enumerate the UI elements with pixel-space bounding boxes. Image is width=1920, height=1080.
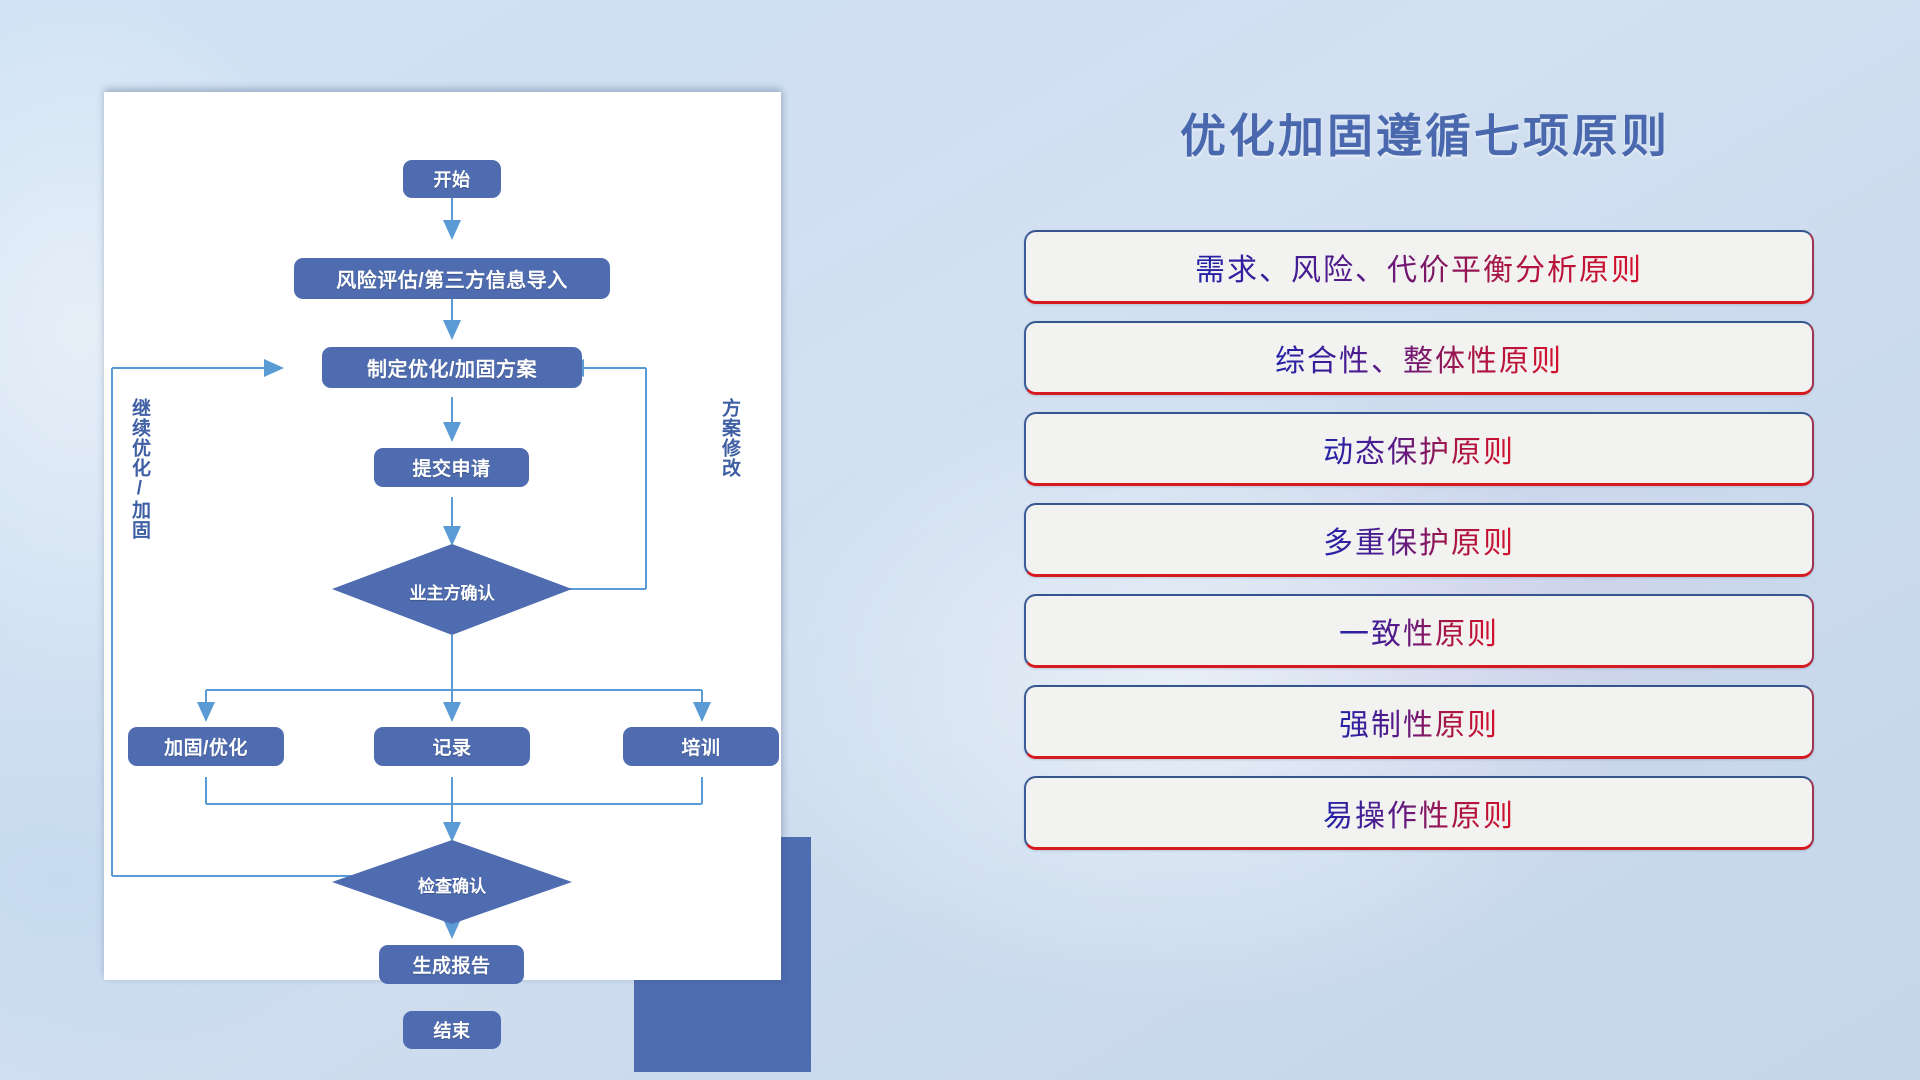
principle-item[interactable]: 多重保护原则 — [1024, 503, 1814, 577]
flowchart-card: 开始 风险评估/第三方信息导入 制定优化/加固方案 提交申请 业主方确认 加固/… — [104, 92, 781, 980]
flow-node-training-label: 培训 — [681, 733, 720, 760]
flow-node-end[interactable]: 结束 — [403, 1011, 501, 1049]
flow-node-make-plan-label: 制定优化/加固方案 — [367, 353, 537, 382]
flow-edge-label-right-loop: 方案修改 — [719, 398, 739, 478]
slide-canvas: 开始 风险评估/第三方信息导入 制定优化/加固方案 提交申请 业主方确认 加固/… — [0, 0, 1920, 1080]
flow-node-make-plan[interactable]: 制定优化/加固方案 — [322, 347, 582, 388]
flow-node-owner-confirm — [332, 544, 572, 635]
flow-node-generate-report-label: 生成报告 — [412, 951, 490, 978]
flow-node-reinforce-optimize-label: 加固/优化 — [164, 733, 248, 760]
flow-edge-label-left-loop: 继续优化/加固 — [129, 398, 149, 540]
flow-node-submit-application-label: 提交申请 — [412, 454, 490, 481]
principle-item-label: 动态保护原则 — [1323, 427, 1515, 471]
principle-item[interactable]: 强制性原则 — [1024, 685, 1814, 759]
flow-node-record[interactable]: 记录 — [374, 727, 530, 766]
flow-node-end-label: 结束 — [434, 1017, 471, 1043]
principle-item[interactable]: 一致性原则 — [1024, 594, 1814, 668]
principle-item-label: 需求、风险、代价平衡分析原则 — [1195, 245, 1643, 289]
principle-item-label: 强制性原则 — [1339, 700, 1499, 744]
principle-item-label: 易操作性原则 — [1323, 791, 1515, 835]
flow-node-record-label: 记录 — [432, 733, 471, 760]
flow-node-generate-report[interactable]: 生成报告 — [379, 945, 524, 984]
principle-item-label: 综合性、整体性原则 — [1275, 336, 1563, 380]
flow-node-risk-assessment-label: 风险评估/第三方信息导入 — [336, 264, 568, 293]
flow-node-risk-assessment[interactable]: 风险评估/第三方信息导入 — [294, 258, 610, 299]
page-title: 优化加固遵循七项原则 — [1020, 100, 1830, 166]
principle-item-label: 多重保护原则 — [1323, 518, 1515, 562]
flow-node-check-confirm — [332, 840, 572, 924]
principle-item[interactable]: 综合性、整体性原则 — [1024, 321, 1814, 395]
principles-list: 需求、风险、代价平衡分析原则 综合性、整体性原则 动态保护原则 多重保护原则 一… — [1024, 230, 1814, 867]
flow-node-reinforce-optimize[interactable]: 加固/优化 — [128, 727, 284, 766]
principle-item-label: 一致性原则 — [1339, 609, 1499, 653]
flowchart-panel: 开始 风险评估/第三方信息导入 制定优化/加固方案 提交申请 业主方确认 加固/… — [104, 92, 804, 982]
flow-node-start[interactable]: 开始 — [403, 160, 501, 198]
flow-node-submit-application[interactable]: 提交申请 — [374, 448, 529, 487]
principles-panel: 优化加固遵循七项原则 需求、风险、代价平衡分析原则 综合性、整体性原则 动态保护… — [1020, 100, 1830, 1000]
flow-node-start-label: 开始 — [434, 166, 471, 192]
flow-node-training[interactable]: 培训 — [623, 727, 779, 766]
principle-item[interactable]: 动态保护原则 — [1024, 412, 1814, 486]
principle-item[interactable]: 需求、风险、代价平衡分析原则 — [1024, 230, 1814, 304]
principle-item[interactable]: 易操作性原则 — [1024, 776, 1814, 850]
flowchart-connectors — [104, 92, 781, 980]
